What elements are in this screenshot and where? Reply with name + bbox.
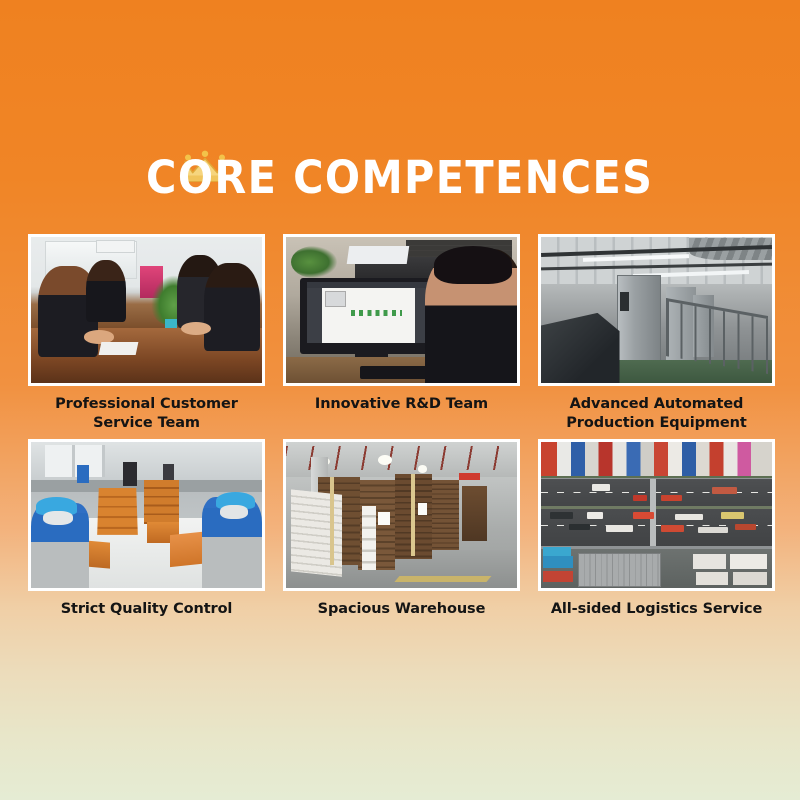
caption-line-1: All-sided Logistics Service [538, 600, 775, 619]
caption-line-1: Spacious Warehouse [283, 600, 520, 619]
caption: Advanced Automated Production Equipment [538, 395, 775, 433]
caption: Innovative R&D Team [283, 395, 520, 414]
photo-frame [538, 439, 775, 591]
photo-frame [28, 234, 265, 386]
caption: Spacious Warehouse [283, 600, 520, 619]
photo-frame [538, 234, 775, 386]
competence-card-spacious-warehouse[interactable]: Spacious Warehouse [283, 439, 520, 619]
competence-card-all-sided-logistics-service[interactable]: All-sided Logistics Service [538, 439, 775, 619]
caption-line-1: Advanced Automated [538, 395, 775, 414]
caption: All-sided Logistics Service [538, 600, 775, 619]
competences-grid: Professional Customer Service Team [28, 234, 774, 619]
caption: Strict Quality Control [28, 600, 265, 619]
photo-printing-press [541, 237, 772, 383]
caption-line-1: Strict Quality Control [28, 600, 265, 619]
caption-line-2: Service Team [28, 414, 265, 433]
photo-office-meeting [31, 237, 262, 383]
core-competences-banner: CORE COMPETENCES Professional Customer S… [0, 0, 800, 800]
caption: Professional Customer Service Team [28, 395, 265, 433]
caption-line-1: Professional Customer [28, 395, 265, 414]
caption-line-1: Innovative R&D Team [283, 395, 520, 414]
title-block: CORE COMPETENCES [0, 150, 800, 206]
photo-frame [28, 439, 265, 591]
photo-warehouse [286, 442, 517, 588]
competence-card-advanced-automated-production-equipment[interactable]: Advanced Automated Production Equipment [538, 234, 775, 433]
photo-frame [283, 234, 520, 386]
photo-quality-control [31, 442, 262, 588]
caption-line-2: Production Equipment [538, 414, 775, 433]
page-title: CORE COMPETENCES [146, 150, 653, 206]
competence-card-professional-customer-service-team[interactable]: Professional Customer Service Team [28, 234, 265, 433]
photo-frame [283, 439, 520, 591]
competence-card-innovative-rd-team[interactable]: Innovative R&D Team [283, 234, 520, 433]
competence-card-strict-quality-control[interactable]: Strict Quality Control [28, 439, 265, 619]
photo-rd-designer [286, 237, 517, 383]
photo-logistics-port [541, 442, 772, 588]
